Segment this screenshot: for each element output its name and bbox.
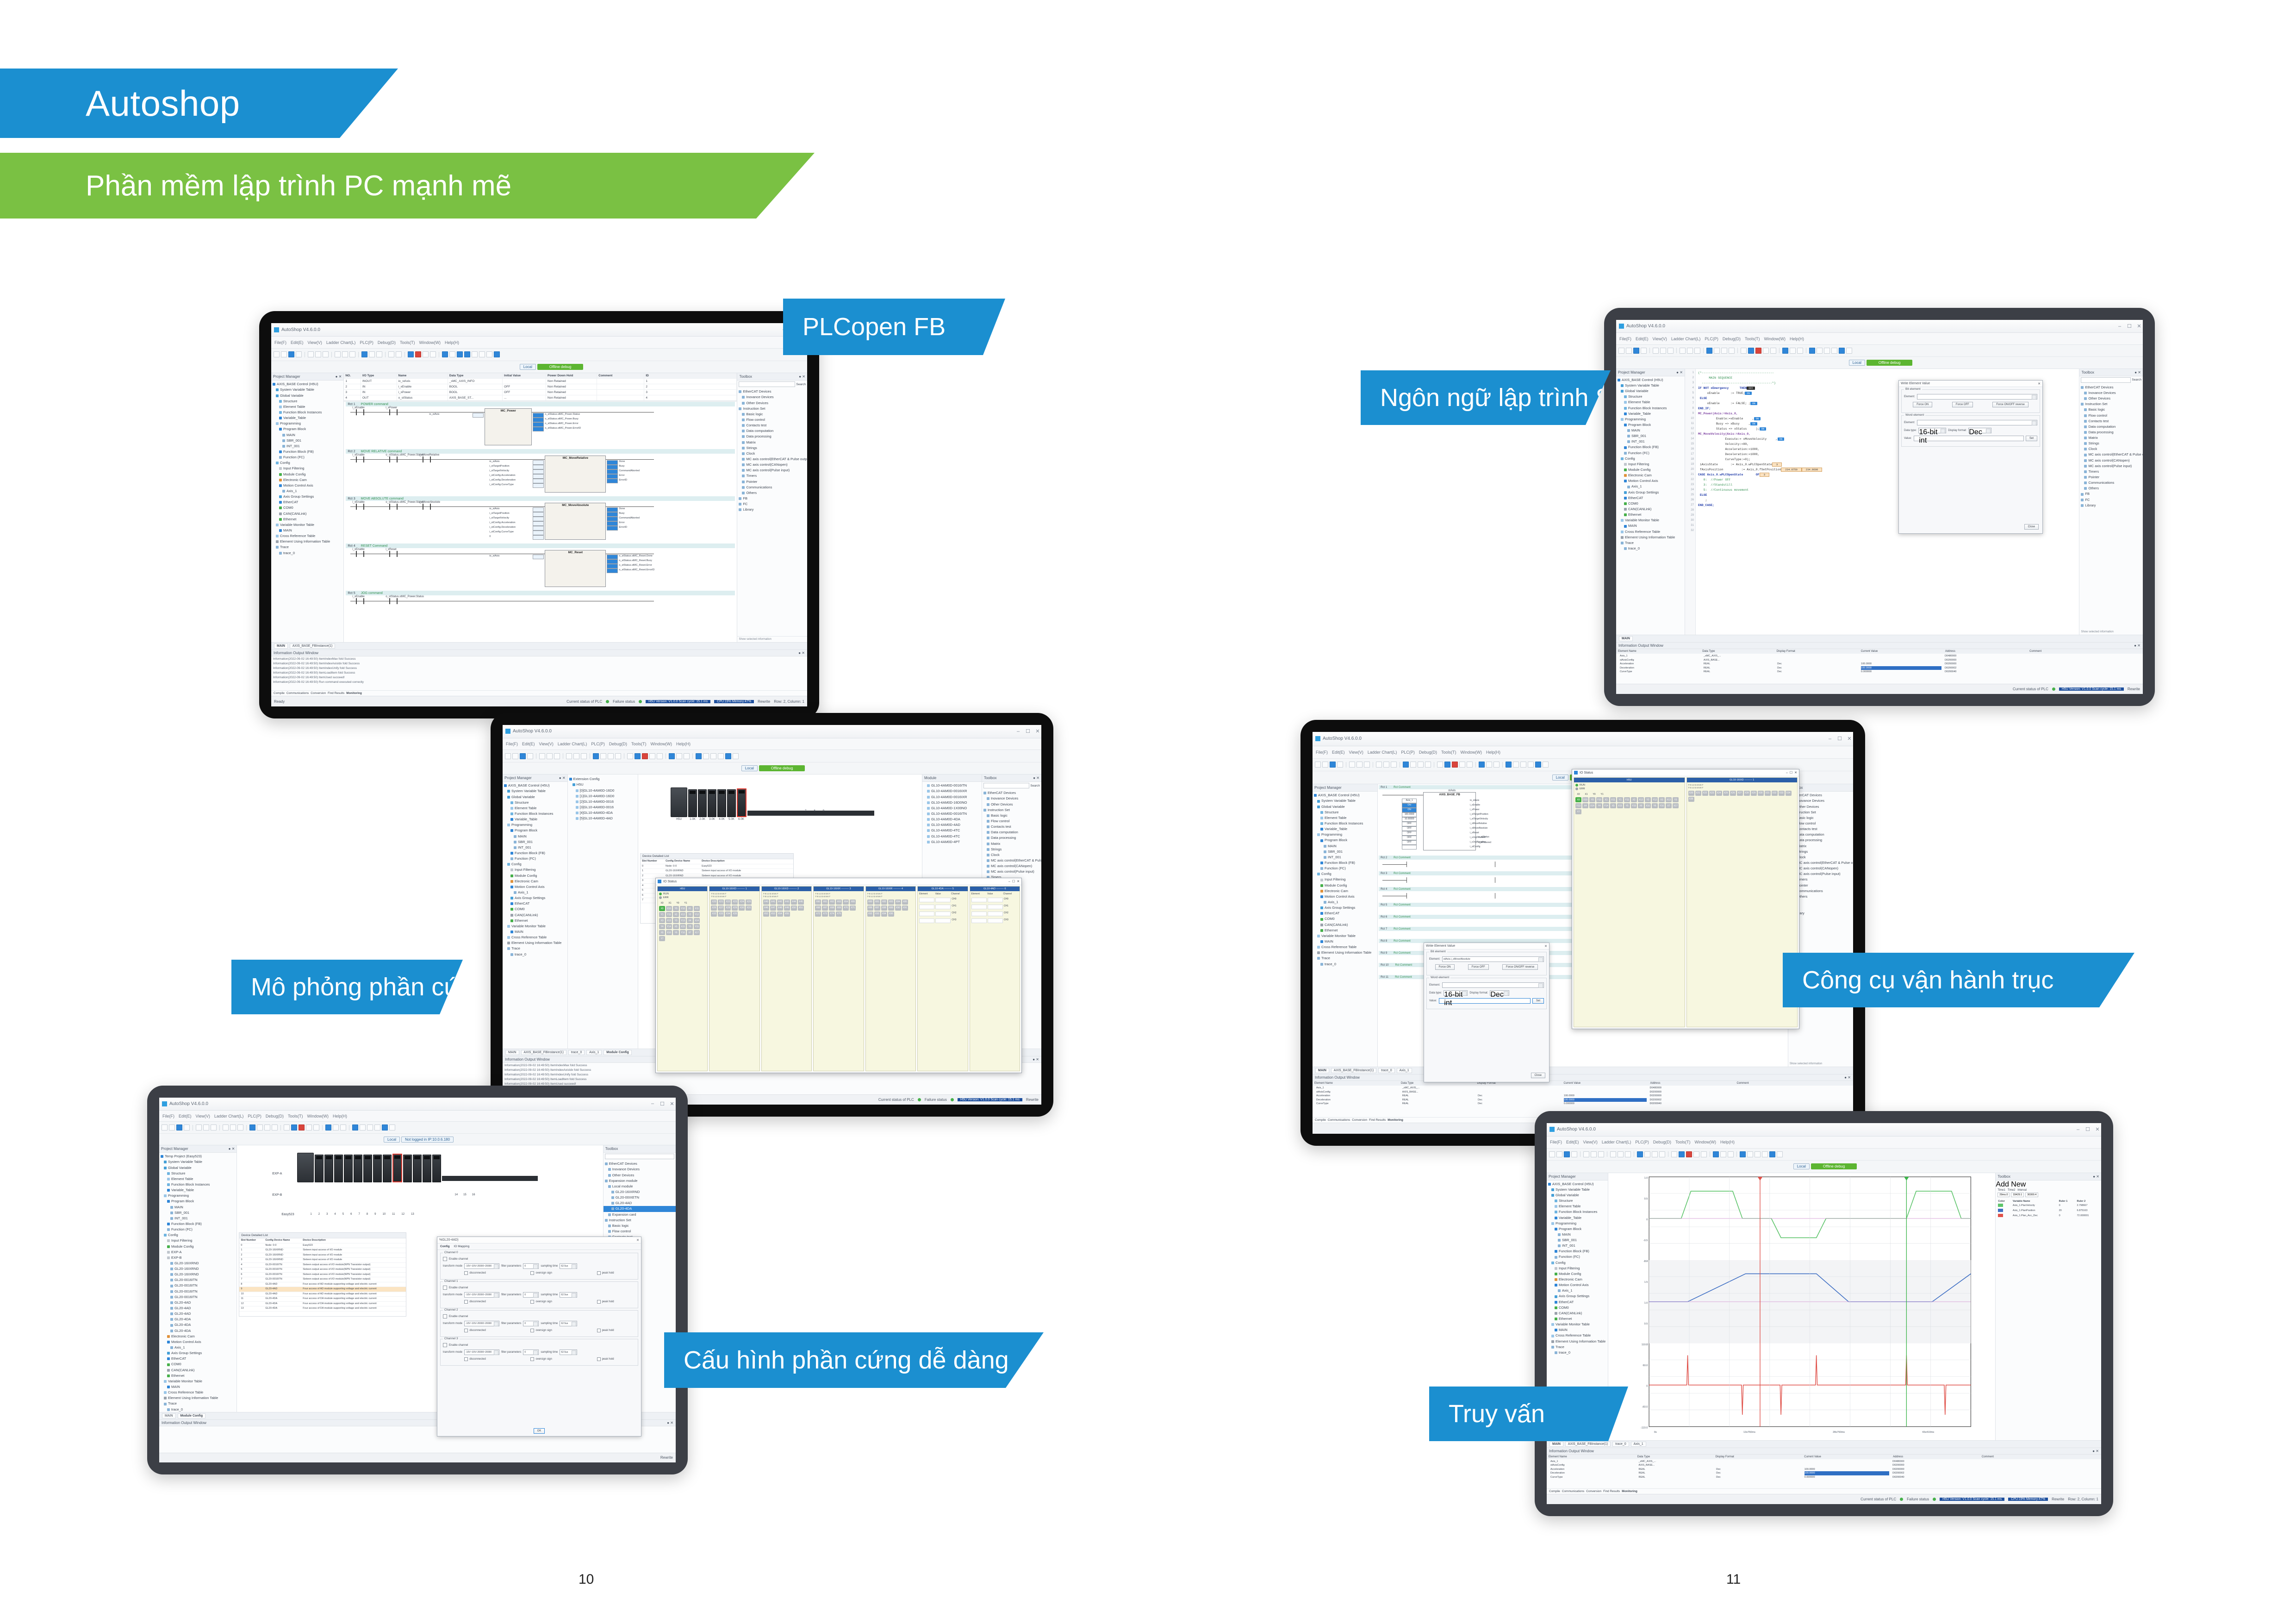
tree-node[interactable]: Variable_Table [271,415,343,421]
table-cell[interactable]: Node: 0-0 [664,864,700,869]
monitor-row[interactable]: AccelerationREALDec100.0000D0200000 [1549,1468,2099,1472]
menu-item-debug-5[interactable]: Debug(D) [1419,750,1437,755]
document-tabs-6[interactable]: MAINAXIS_BASE_FBInstance(1)trace_0Axis_1 [1547,1440,2101,1448]
rung-body[interactable]: i_xEnablei_xPowerMC_Powerio_stAxiso_stSt… [346,406,735,447]
tree-node[interactable]: Programming [1616,417,1685,422]
tree-node[interactable]: Variable Monitor Table [159,1379,236,1384]
toolbox-search-label[interactable]: Search [796,383,806,386]
tree-node[interactable]: Data computation [982,830,1041,835]
io-point[interactable]: X48 [777,906,783,911]
tree-node[interactable]: Communications [737,485,807,490]
menu-item-tools-4[interactable]: Tools(T) [1745,337,1760,341]
fb-input-pin[interactable] [533,512,544,517]
tree-node[interactable]: Expansion module [604,1178,676,1184]
output-tab[interactable]: Find Results [328,692,344,695]
delete-icon[interactable] [1625,1151,1631,1157]
io-channel-row[interactable]: CH0 [971,898,1018,902]
menu-bar-6[interactable]: File(F) Edit(E) View(V) Ladder Chart(L) … [1547,1137,2101,1149]
io-point[interactable]: X14 [1589,803,1595,808]
iow-pin-close-5[interactable]: ● ✕ [1844,1075,1851,1080]
channel-checkbox[interactable]: oversign sign [530,1357,552,1361]
variable-grid-row[interactable]: 3INi_xPowerBOOLOFFNon Retained3 [344,390,737,395]
io-point[interactable]: X40 [763,899,769,905]
tree-node[interactable]: Function Block Instances [1616,406,1685,411]
output-tab[interactable]: Communications [1562,1490,1584,1493]
table-cell[interactable]: Sixteen output access of I/O module(NPN … [301,1268,406,1273]
legend-row[interactable]: Axis_1.Plan_Acc_Dec072.000001 [1997,1213,2100,1218]
io-point[interactable]: X51 [798,906,804,911]
monitor-row[interactable]: Axis_1_sMC_AXIS_...D0480000 [1618,654,2141,658]
io-channel-row[interactable]: CH1 [919,905,966,909]
fb-output-pin[interactable] [607,469,618,474]
tree-node[interactable]: MC axis control(EtherCAT & Pulse output) [2079,452,2143,457]
compile-icon[interactable] [1701,1151,1707,1157]
io-point[interactable]: Y14 [666,924,672,929]
fb-output-pin[interactable] [607,564,618,568]
toolbox-tree-4[interactable]: EtherCAT DevicesInovance DevicesOther De… [2079,384,2143,629]
tree-node[interactable]: INT_001 [1616,439,1685,444]
tree-node[interactable]: FC [737,501,807,507]
tree-node[interactable]: EtherCAT [159,1356,236,1362]
io-point[interactable]: X6 [1638,803,1644,808]
io-channel-row[interactable]: CH2 [971,912,1018,916]
fb-input-pin[interactable] [533,507,544,512]
channel-groups[interactable]: Channel 0Enable channeltransform mode-10… [437,1250,641,1368]
tree-node[interactable]: MC axis control(Pulse input) [737,468,807,473]
fb-output-pin[interactable] [533,413,544,418]
monitor-cell[interactable]: 100.0000 [1804,1471,1890,1475]
tree-node[interactable]: Variable Monitor Table [1616,518,1685,523]
plc-io-module[interactable] [315,1155,324,1182]
monitor-value-chip[interactable]: 234.9600 [1802,468,1822,472]
variable-grid-cell[interactable]: 2 [344,384,361,389]
monitor-cell[interactable]: 100.0000 [1804,1468,1890,1472]
run-icon[interactable] [408,351,414,357]
table-cell[interactable]: GL20-4DA [264,1297,301,1302]
tree-node[interactable]: Axis Group Settings [1547,1293,1608,1299]
fb-output-pin[interactable] [607,517,618,521]
table-cell[interactable]: Sixteen input access of I/O module [700,869,793,874]
edit-mode-icon[interactable] [464,351,470,357]
variable-grid-cell[interactable] [597,384,644,389]
save-icon[interactable] [176,1124,182,1131]
undo-icon[interactable] [335,351,341,357]
table-cell[interactable]: GL20-4AD [264,1292,301,1297]
tree-node[interactable]: Program Block [1616,422,1685,428]
table-cell[interactable]: 3 [239,1258,264,1263]
io-point[interactable]: X25 [1723,791,1729,796]
monitor-icon[interactable] [423,351,429,357]
menu-item-window-3[interactable]: Window(W) [307,1114,329,1118]
table-cell[interactable]: GL20-0016ITN [264,1262,301,1268]
trace-icon[interactable] [333,1124,339,1131]
transform-row[interactable]: transform mode-10V~10V/-20000~20000filte… [443,1349,635,1355]
table-row[interactable]: 4GL20-0016ITNSixteen output access of I/… [239,1262,406,1268]
tree-node[interactable]: CAN(CANLink) [1616,506,1685,512]
tree-node[interactable]: Ethernet [271,517,343,522]
menu-item-help-2[interactable]: Help(H) [676,742,691,746]
tree-node[interactable]: Structure [1547,1198,1608,1204]
io-point[interactable]: X4 [687,918,693,923]
write-dialog-footer[interactable]: Close [2024,521,2039,530]
toolbox-pin-close-2[interactable]: ● ✕ [1033,776,1039,780]
plc-cpu-module[interactable] [297,1153,314,1182]
table-row[interactable]: 0Node: 0-0Easy523 [239,1243,406,1248]
io-point[interactable]: X2 [1631,797,1637,802]
cross-ref-icon[interactable] [340,1124,346,1131]
variable-grid-cell[interactable]: 3 [344,390,361,395]
monitor-table-rows-6[interactable]: Axis_1_sMC_AXIS_...D0480000stAxisConfigA… [1547,1459,2101,1488]
axis-input-value[interactable]: 10.00000 [1402,817,1417,822]
monitor-cell[interactable]: CurveType [1316,1102,1399,1106]
tree-node[interactable]: GL10-4AM0D-16D0NO [922,800,982,806]
monitor-cell[interactable]: D0200000 [1945,658,2025,662]
tree-node[interactable]: Axis_1 [1616,484,1685,489]
menu-item-window-2[interactable]: Window(W) [650,742,672,746]
variable-grid-cell[interactable]: AXIS_BASE_ST... [448,395,503,400]
ladder-toolbar-4[interactable]: Local Offline debug [1616,357,2143,369]
trace-icon[interactable] [449,351,455,357]
channel-checkbox[interactable]: peak hold [597,1357,614,1361]
local-button-5[interactable]: Local [1552,775,1568,781]
io-point[interactable]: X75 [836,912,842,917]
write-dialog-close-icon[interactable]: ✕ [2038,382,2041,386]
tree-node[interactable]: MAIN [1313,939,1377,944]
tree-node[interactable]: Motion Control Axis [159,1339,236,1345]
pin-close-icons-3[interactable]: ● ✕ [229,1147,235,1151]
io-point[interactable]: X53 [770,912,776,917]
tree-node[interactable]: GL10-4AM0D-1X00NO [922,806,982,811]
comment-icon[interactable] [1831,348,1837,354]
tree-node[interactable]: EtherCAT [1616,495,1685,501]
io-point[interactable]: X72 [815,912,821,917]
toolbox-search-row-4[interactable]: Search [2079,376,2143,384]
write-dialog-close-icon-5[interactable]: ✕ [1544,944,1547,948]
main-toolbar-3[interactable] [159,1122,676,1133]
tree-node[interactable]: Input Filtering [1547,1266,1608,1271]
iow-pin-close-3[interactable]: ● ✕ [667,1421,673,1425]
tree-node[interactable]: Global Variable [1547,1193,1608,1198]
io-point[interactable]: X13 [1666,797,1672,802]
redo-icon[interactable] [573,753,579,759]
io-point[interactable]: X10 [1582,797,1588,802]
io-point[interactable]: X70 [843,906,849,911]
tree-node[interactable]: Element Table [159,1176,236,1182]
plc-io-module[interactable] [324,1155,333,1182]
new-icon[interactable] [1618,348,1624,354]
maximize-icon-4[interactable]: ☐ [2126,323,2133,329]
force-off-button-5[interactable]: Force OFF [1468,964,1489,970]
tree-node[interactable]: MAIN [1616,428,1685,433]
tree-node[interactable]: trace_0 [271,550,343,556]
plc-io-module[interactable] [727,789,736,817]
document-tab[interactable]: Module Config [178,1413,206,1418]
tree-node[interactable]: Function Block (FB) [271,449,343,455]
info-icon[interactable] [725,753,731,759]
tree-node[interactable]: Inovance Devices [604,1167,676,1172]
monitor-cell[interactable]: Deceleration [1316,1098,1399,1102]
io-point[interactable]: Y13 [680,918,686,923]
tree-node[interactable]: Structure [1616,394,1685,400]
menu-item-help-4[interactable]: Help(H) [1790,337,1804,341]
rung-body[interactable]: i_xEnableo_stStatus.stMC_Power.Statusi_x… [346,454,735,494]
channel-dialog-close-icon[interactable]: ✕ [636,1238,639,1242]
menu-item-ladder-chart-6[interactable]: Ladder Chart(L) [1602,1140,1631,1144]
table-cell[interactable]: Easy523 [301,1243,406,1248]
plc-io-module[interactable] [698,789,707,817]
channel-config-dialog[interactable]: %GL20-4AD) ✕ Config IO Mapping Channel 0… [437,1237,641,1437]
tree-node[interactable]: trace_0 [1547,1350,1608,1355]
tree-node[interactable]: Flow control [982,818,1041,824]
io-point[interactable]: X4 [1582,803,1588,808]
fb-output-pin[interactable] [607,555,618,559]
monitor-cell[interactable] [2028,666,2139,670]
extra1-icon[interactable] [1846,348,1852,354]
io-point[interactable]: X35 [1688,797,1694,802]
ladder-toolbar-6[interactable]: Local Offline debug [1547,1161,2101,1173]
tree-node[interactable]: Axis_1 [1547,1288,1608,1293]
io-point[interactable]: X94 [881,912,887,917]
menu-item-debug-2[interactable]: Debug(D) [609,742,627,746]
io-point[interactable]: Y15 [1631,803,1637,808]
stop-icon[interactable] [415,351,421,357]
tree-node[interactable]: Global Variable [1616,388,1685,394]
tree-node[interactable]: Motion Control Axis [1313,894,1377,899]
minimize-icon-2[interactable]: – [1014,729,1022,734]
variable-grid-cell[interactable] [503,379,546,384]
tree-node[interactable]: System Variable Table [503,788,567,794]
pin-close-icons[interactable]: ● ✕ [336,375,342,379]
tree-node[interactable]: System Variable Table [271,387,343,393]
grid-icon[interactable] [360,1124,366,1131]
online-debug-icon[interactable] [1479,762,1485,768]
io-point[interactable]: Y6 [673,930,679,935]
tree-node[interactable]: Element Table [271,404,343,410]
io-status-close-icon-5[interactable]: ✕ [1794,771,1797,775]
monitor-cell[interactable] [1564,1090,1647,1094]
tree-node[interactable]: GL10-4AM0D-4TC [922,828,982,833]
tree-node[interactable]: INT_001 [503,845,567,850]
table-cell[interactable]: GL20-4AD [264,1282,301,1287]
menu-item-file-5[interactable]: File(F) [1316,750,1328,755]
tree-node[interactable]: H5U [568,782,638,787]
function-block[interactable]: MC_MoveRelative [545,456,606,493]
channel-checkbox[interactable]: peak hold [597,1329,614,1332]
io-point[interactable]: X22 [1702,791,1708,796]
menu-bar-2[interactable]: File(F) Edit(E) View(V) Ladder Chart(L) … [503,738,1041,750]
monitor-cell[interactable]: Axis_1 [1316,1086,1399,1090]
maximize-icon-3[interactable]: ☐ [659,1101,666,1107]
menu-item-tools-2[interactable]: Tools(T) [631,742,647,746]
tree-node[interactable]: Program Block [271,426,343,432]
cross-ref-icon[interactable] [457,351,463,357]
channel-checkbox[interactable]: peak hold [597,1300,614,1304]
io-status-minimize-icon[interactable]: – [1008,880,1010,883]
tree-node[interactable]: Variable Monitor Table [503,924,567,929]
io-point[interactable]: Y16 [680,930,686,935]
monitor-cell[interactable] [1736,1090,1849,1094]
tree-node[interactable]: System Variable Table [1616,383,1685,388]
paste-icon[interactable] [1668,348,1674,354]
monitor-cell[interactable]: D0200040 [1892,1475,1978,1480]
tree-node[interactable]: Axis_1 [271,488,343,494]
table-row[interactable]: 13GL20-4DAFour access of DA module suppo… [239,1306,406,1312]
fb-input-pin[interactable] [533,465,544,469]
io-point[interactable]: X24 [739,899,745,905]
display-format-combo[interactable]: Dec [1968,428,1991,433]
menu-bar-5[interactable]: File(F) Edit(E) View(V) Ladder Chart(L) … [1313,746,1853,759]
monitor-cell[interactable]: D0200040 [1945,670,2025,674]
fb-input-pin[interactable] [533,517,544,521]
tree-node[interactable]: Programming [1313,832,1377,837]
io-point[interactable]: X6 [659,930,665,935]
tree-node[interactable]: Axis Group Settings [1313,905,1377,911]
project-tree-3[interactable]: Temp Project (Easy523)System Variable Ta… [159,1153,236,1412]
monitor-cell[interactable]: D0200000 [1650,1094,1733,1098]
tree-node[interactable]: SBR_001 [271,438,343,443]
document-tab[interactable]: MAIN [1619,636,1633,641]
table-row[interactable]: 5GL20-0016ITNSixteen output access of I/… [239,1268,406,1273]
document-tab[interactable]: Module Config [604,1050,632,1055]
document-tabs-5[interactable]: MAINAXIS_BASE_FBInstance(1)trace_0Axis_1 [1313,1067,1853,1074]
tree-node[interactable]: Cross Reference Table [1313,944,1377,950]
tree-node[interactable]: Programming [1547,1221,1608,1226]
tree-node[interactable]: Program Block [1547,1226,1608,1232]
toolbox-search-label-2[interactable]: Search [1030,784,1040,787]
io-point[interactable]: X89 [888,906,894,911]
tree-node[interactable]: Cross Reference Table [159,1390,236,1395]
tree-node[interactable]: Element Using Information Table [1616,535,1685,540]
io-point[interactable]: X11 [694,906,700,911]
io-channel-row[interactable]: CH3 [919,918,966,923]
table-cell[interactable]: Four access of DA module supporting volt… [301,1306,406,1312]
io-point[interactable]: X68 [829,906,835,911]
monitor-cell[interactable]: Deceleration [1620,666,1700,670]
output-tab[interactable]: Monitoring [1622,1490,1637,1493]
io-point[interactable]: X12 [680,912,686,917]
tree-node[interactable]: Basic logic [982,813,1041,818]
io-point[interactable]: X14 [694,918,700,923]
delete-icon[interactable] [1694,348,1700,354]
io-status-window[interactable]: IO Status – ☐ ✕ H5URUNERRX0X1Y0Y1X0X10Y0… [655,878,1022,1073]
monitor-cell[interactable]: Dec [1478,1102,1561,1106]
tree-node[interactable]: Programming [503,822,567,828]
download-icon[interactable] [615,753,621,759]
compile-icon[interactable] [313,1124,319,1131]
io-point[interactable]: X12 [1638,797,1644,802]
variable-grid-cell[interactable]: Non Retained [546,384,597,389]
document-tab[interactable]: MAIN [505,1050,519,1055]
tree-node[interactable]: GL20-4AD [604,1200,676,1206]
tree-node[interactable]: Trace [1313,956,1377,961]
tree-node[interactable]: Input Filtering [1616,462,1685,467]
io-point[interactable]: X35 [732,912,738,917]
align-icon[interactable] [710,753,716,759]
tree-node[interactable]: Inovance Devices [737,394,807,400]
monitor-cell[interactable]: REAL [1704,662,1774,666]
menu-item-debug-6[interactable]: Debug(D) [1653,1140,1671,1144]
close-icon-2[interactable]: ✕ [1034,728,1041,734]
upload-icon[interactable] [1671,1151,1677,1157]
io-status-close-icon[interactable]: ✕ [1017,880,1020,883]
trace-chart[interactable]: 1.00.50-0.5-1.02.01.51.00.50110.060.00-6… [1608,1173,1996,1440]
tree-node[interactable]: Other Devices [982,802,1041,807]
io-point[interactable]: X71 [850,906,856,911]
document-tab[interactable]: MAIN [1315,1068,1329,1073]
fb-output-pin[interactable] [607,507,618,512]
io-point[interactable]: X54 [777,912,783,917]
menu-bar-3[interactable]: File(F) Edit(E) View(V) Ladder Chart(L) … [159,1111,676,1122]
monitor-cell[interactable]: _sMC_AXIS_... [1402,1086,1475,1090]
plc-io-module[interactable] [363,1155,372,1182]
tree-node[interactable]: Variable Monitor Table [271,522,343,528]
compile-icon[interactable] [657,753,663,759]
tree-node[interactable]: Ethernet [503,918,567,924]
close-button-5[interactable]: Close [1531,1073,1545,1078]
compile-icon[interactable] [1770,348,1776,354]
ladder-toolbar[interactable]: Local Offline debug [271,361,807,374]
monitor-cell[interactable]: 100.0000 [1564,1094,1647,1098]
online-debug-icon[interactable] [669,753,675,759]
tree-node[interactable]: Config [503,862,567,867]
tree-node[interactable]: MAIN [159,1205,236,1210]
tree-node[interactable]: SBR_001 [503,839,567,845]
tree-node[interactable]: Element Using Information Table [1547,1339,1608,1344]
io-point[interactable]: X55 [784,912,790,917]
tree-node[interactable]: Global Variable [271,393,343,399]
enable-channel-checkbox[interactable] [443,1314,447,1318]
monitor-cell[interactable]: D0200040 [1650,1102,1733,1106]
tree-node[interactable]: Library [737,507,807,512]
variable-grid-cell[interactable]: _sMC_AXIS_INFO [448,379,503,384]
io-point[interactable]: Y12 [694,912,700,917]
online-debug-icon[interactable] [1713,1151,1719,1157]
monitor-cell[interactable] [1981,1471,2097,1475]
delete-icon[interactable] [237,1124,243,1131]
cross-ref-icon[interactable] [1493,762,1500,768]
maximize-icon-6[interactable]: ☐ [2084,1126,2091,1132]
axis-input-value[interactable]: OFF [1402,822,1417,826]
tree-node[interactable]: Pointer [2079,475,2143,480]
tree-node[interactable]: GL20-0016ITN [159,1289,236,1294]
compile-icon[interactable] [430,351,436,357]
legend-row[interactable]: Axis_1.PlanVelocity02.798667 [1997,1203,2100,1208]
checkbox-box[interactable] [530,1357,534,1361]
tree-node[interactable]: Flow control [737,417,807,423]
tree-node[interactable]: COM0 [271,505,343,511]
monitor-cell[interactable]: Axis_1 [1550,1460,1636,1464]
io-point[interactable]: X16 [1645,803,1651,808]
output-tab[interactable]: Find Results [1603,1490,1620,1493]
io-channel-element[interactable] [971,918,987,923]
io-point[interactable]: X11 [1610,797,1616,802]
tree-node[interactable]: Program Block [503,828,567,833]
table-cell[interactable]: 11 [239,1297,264,1302]
variable-grid-cell[interactable]: 4 [644,395,737,400]
upload-icon[interactable] [627,753,633,759]
table-cell[interactable]: GL20-0016ITN [264,1272,301,1277]
tree-node[interactable]: GL10-4AM0D-4AD [922,822,982,828]
code-line[interactable]: (*--------------------------------------… [1698,370,2079,375]
io-point[interactable]: X3 [659,918,665,923]
print-icon[interactable] [527,753,533,759]
menu-bar-4[interactable]: File(F) Edit(E) View(V) Ladder Chart(L) … [1616,333,2143,344]
tree-node[interactable]: Motion Control Axis [1547,1282,1608,1288]
io-channel-element[interactable] [971,905,987,909]
menu-item-window[interactable]: Window(W) [419,340,441,345]
io-status-maximize-icon[interactable]: ☐ [1012,880,1015,883]
tree-node[interactable]: EtherCAT Devices [604,1161,676,1167]
